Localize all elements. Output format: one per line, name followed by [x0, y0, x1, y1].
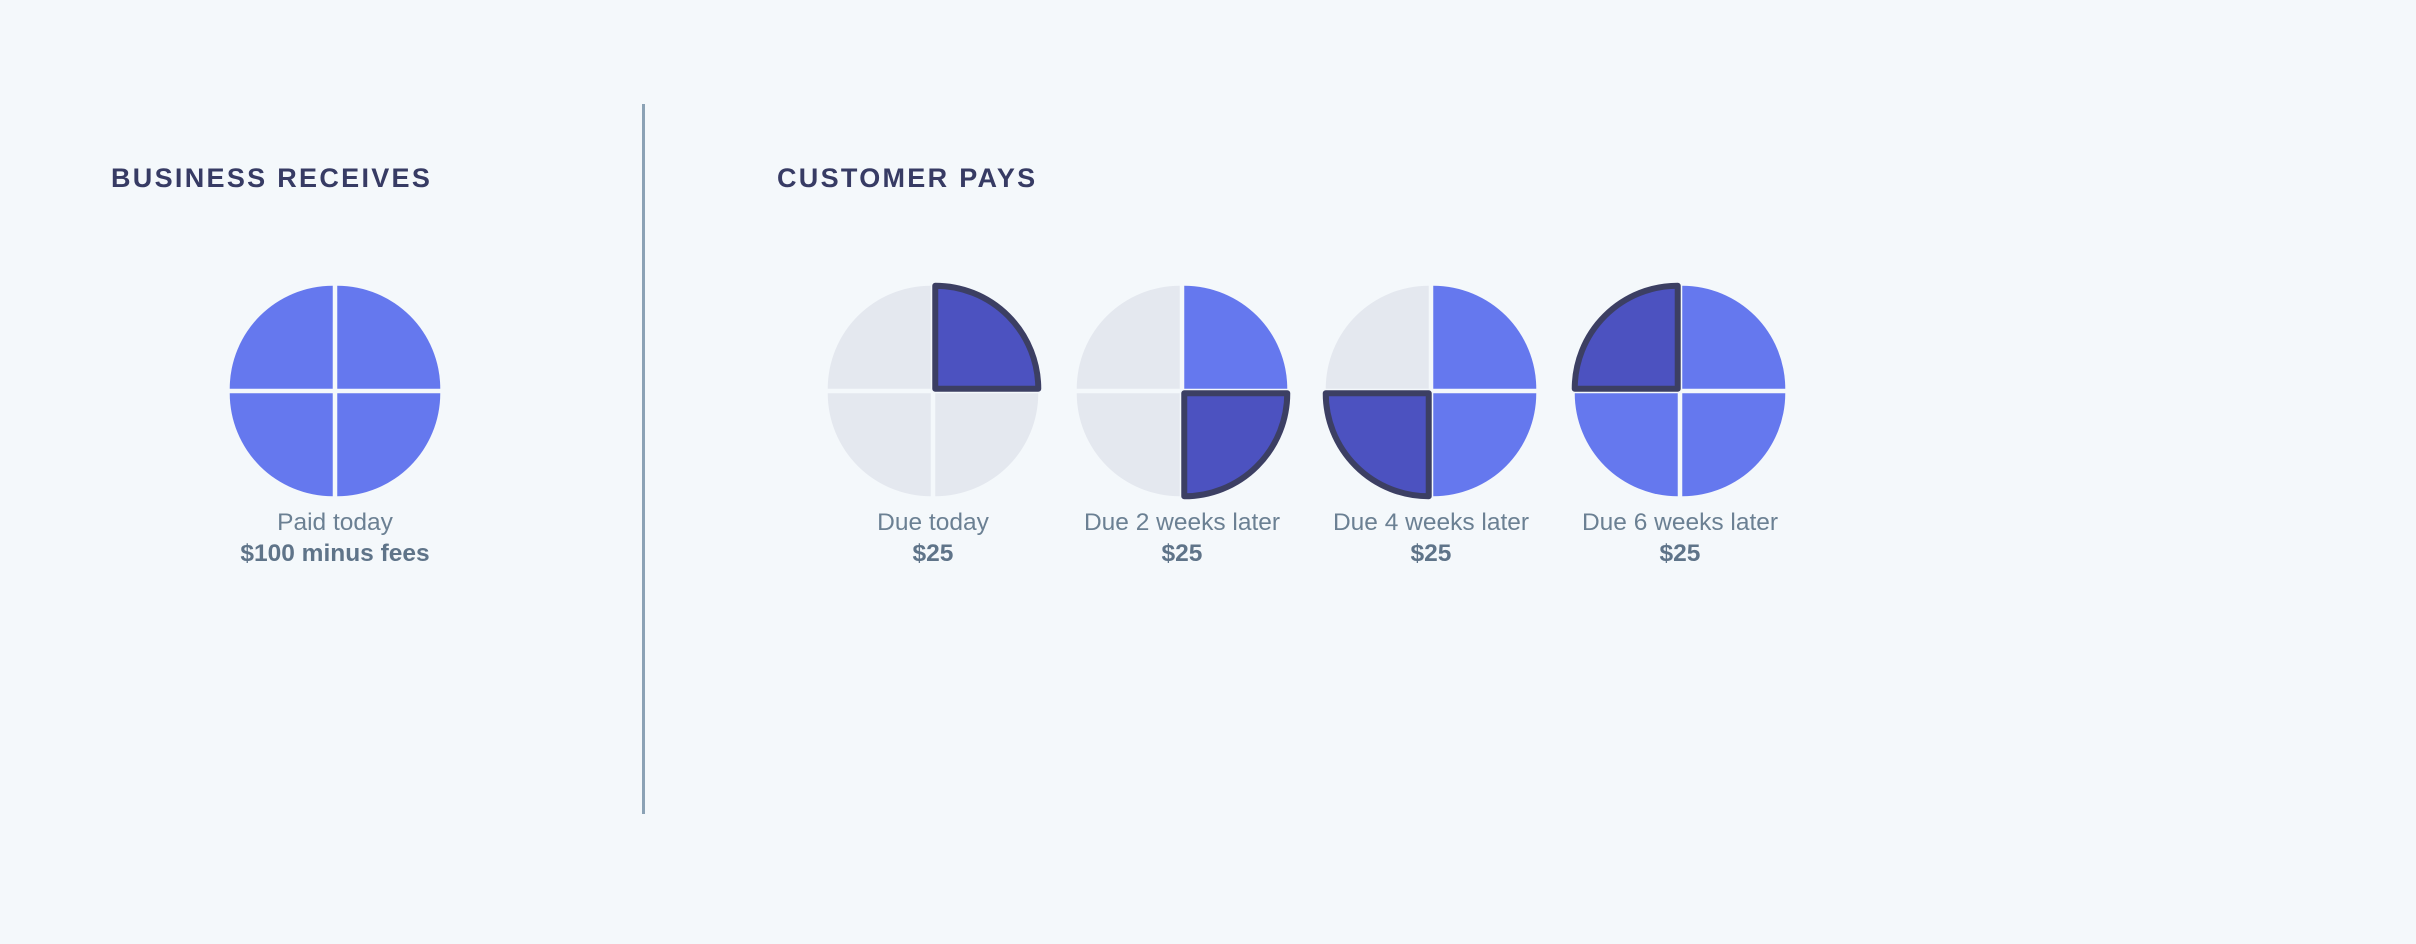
pie-svg [823, 281, 1043, 501]
pie-slice-bottom-left [828, 393, 931, 496]
pie-chart-due-6-weeks-later [1530, 281, 1830, 496]
pie-svg [1321, 281, 1541, 501]
pie-slice-top-left [828, 286, 931, 389]
pie-label: Due 6 weeks later [1530, 508, 1830, 537]
pie-slice-bottom-left [1326, 393, 1429, 496]
pie-slice-bottom-right [1682, 393, 1785, 496]
pie-caption: Paid today $100 minus fees [185, 508, 485, 570]
pie-svg [1570, 281, 1790, 501]
pie-slice-top-left [230, 286, 333, 389]
pie-slice-top-right [935, 286, 1038, 389]
pie-slice-bottom-right [1433, 393, 1536, 496]
section-divider [642, 104, 645, 814]
pie-group-business-paid-today: Paid today $100 minus fees [185, 281, 485, 570]
customer-pays-heading: CUSTOMER PAYS [777, 163, 1037, 194]
pie-slice-top-left [1575, 286, 1678, 389]
infographic-canvas: BUSINESS RECEIVES CUSTOMER PAYS Paid tod… [0, 0, 2416, 944]
pie-group-due-6-weeks-later: Due 6 weeks later $25 [1530, 281, 1830, 570]
pie-slice-top-right [337, 286, 440, 389]
pie-label: Paid today [185, 508, 485, 537]
business-receives-heading: BUSINESS RECEIVES [111, 163, 432, 194]
pie-slice-bottom-left [230, 393, 333, 496]
pie-caption: Due 6 weeks later $25 [1530, 508, 1830, 570]
pie-slice-bottom-right [1184, 393, 1287, 496]
pie-slice-top-left [1326, 286, 1429, 389]
pie-amount: $100 minus fees [185, 537, 485, 570]
pie-slice-bottom-right [935, 393, 1038, 496]
pie-slice-bottom-right [337, 393, 440, 496]
pie-slice-top-right [1184, 286, 1287, 389]
pie-slice-bottom-left [1077, 393, 1180, 496]
pie-svg [225, 281, 445, 501]
pie-slice-bottom-left [1575, 393, 1678, 496]
pie-amount: $25 [1530, 537, 1830, 570]
pie-slice-top-right [1682, 286, 1785, 389]
pie-slice-top-left [1077, 286, 1180, 389]
pie-chart-business-paid-today [185, 281, 485, 496]
pie-slice-top-right [1433, 286, 1536, 389]
pie-svg [1072, 281, 1292, 501]
